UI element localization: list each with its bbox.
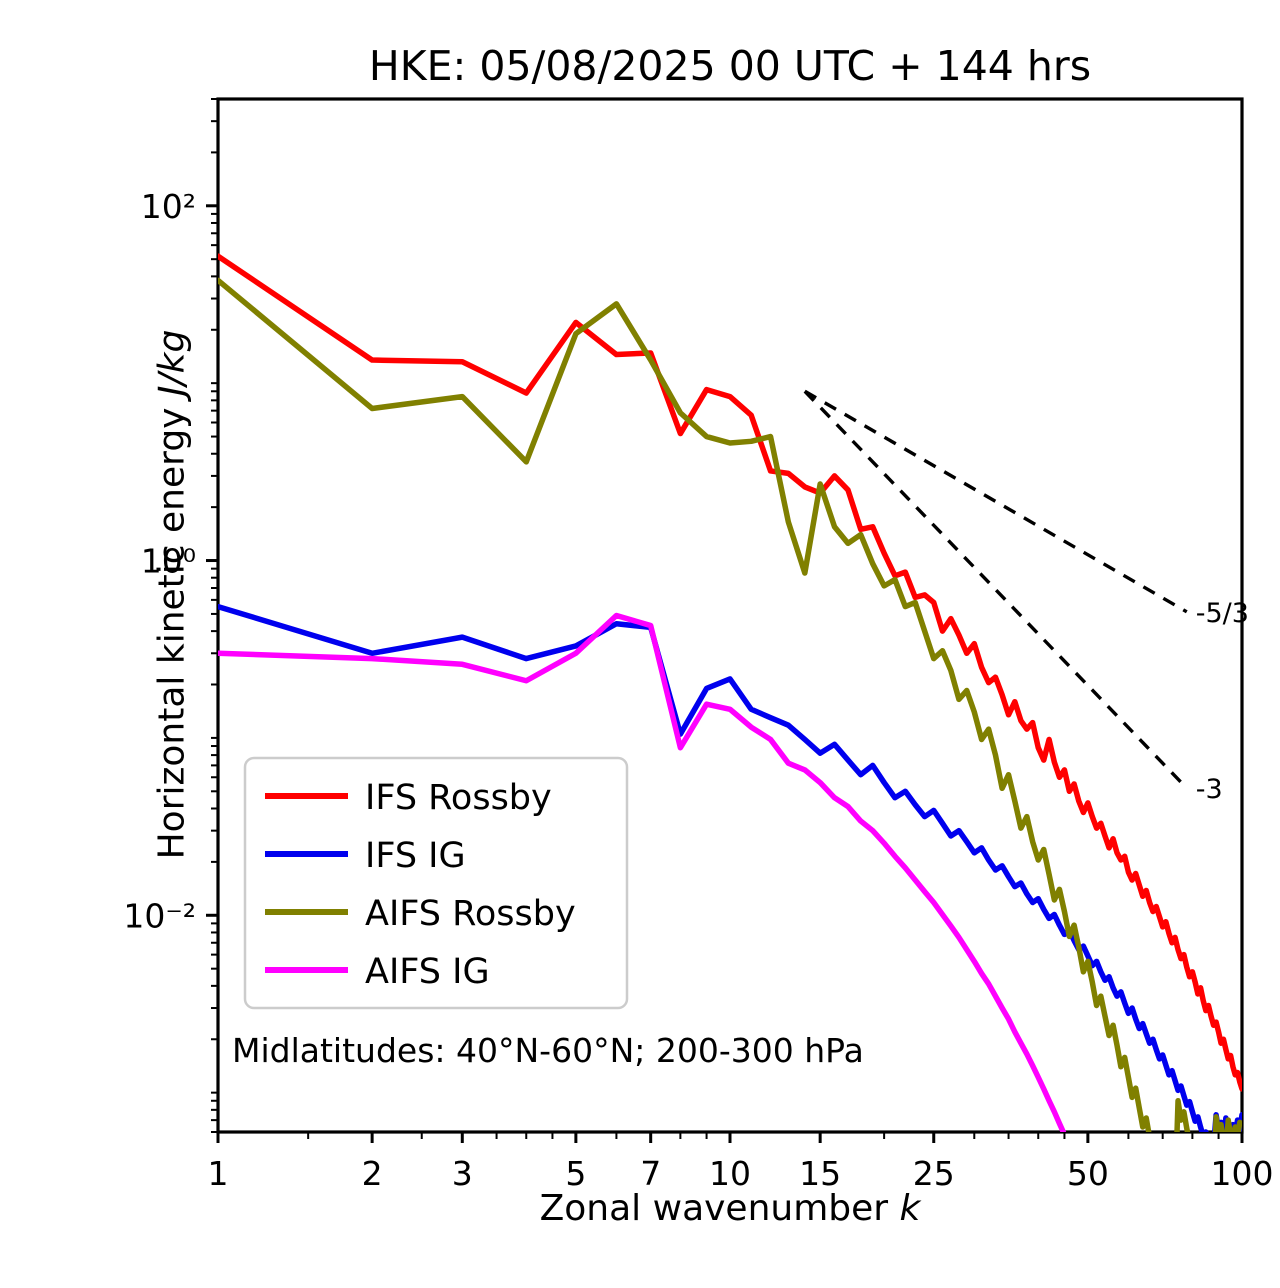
midlatitude-note: Midlatitudes: 40°N-60°N; 200-300 hPa xyxy=(232,1031,864,1070)
y-tick-label: 10² xyxy=(141,187,196,226)
x-tick-label: 100 xyxy=(1211,1154,1274,1193)
x-tick-label: 25 xyxy=(913,1154,955,1193)
slope-label: -3 xyxy=(1196,774,1223,805)
slope-label: -5/3 xyxy=(1196,598,1249,629)
figure-canvas: HKE: 05/08/2025 00 UTC + 144 hrs Horizon… xyxy=(0,0,1280,1288)
legend-label-ifs-ig: IFS IG xyxy=(365,836,466,876)
legend-label-aifs-ig: AIFS IG xyxy=(365,952,490,992)
spectrum-plot: 1235710152550100 10²10⁰10⁻² -5/3-3 IFS R… xyxy=(0,0,1280,1288)
x-tick-label: 7 xyxy=(640,1154,661,1193)
legend: IFS RossbyIFS IGAIFS RossbyAIFS IG xyxy=(245,758,627,1008)
x-tick-label: 50 xyxy=(1067,1154,1109,1193)
y-tick-label: 10⁻² xyxy=(123,896,196,935)
region-annotation: Midlatitudes: 40°N-60°N; 200-300 hPa xyxy=(232,1031,864,1070)
x-tick-label: 15 xyxy=(799,1154,841,1193)
slope-line-3 xyxy=(805,391,1187,788)
x-tick-label: 3 xyxy=(452,1154,473,1193)
x-tick-label: 5 xyxy=(565,1154,586,1193)
x-tick-label: 2 xyxy=(362,1154,383,1193)
reference-slope-group: -5/3-3 xyxy=(805,391,1249,805)
x-axis-ticks: 1235710152550100 xyxy=(208,1132,1274,1193)
legend-label-aifs-rossby: AIFS Rossby xyxy=(365,894,576,934)
legend-label-ifs-rossby: IFS Rossby xyxy=(365,778,552,818)
x-tick-label: 10 xyxy=(709,1154,751,1193)
y-tick-label: 10⁰ xyxy=(141,542,196,581)
y-axis-ticks: 10²10⁰10⁻² xyxy=(123,99,218,1132)
x-tick-label: 1 xyxy=(208,1154,229,1193)
slope-line-53 xyxy=(805,391,1187,612)
